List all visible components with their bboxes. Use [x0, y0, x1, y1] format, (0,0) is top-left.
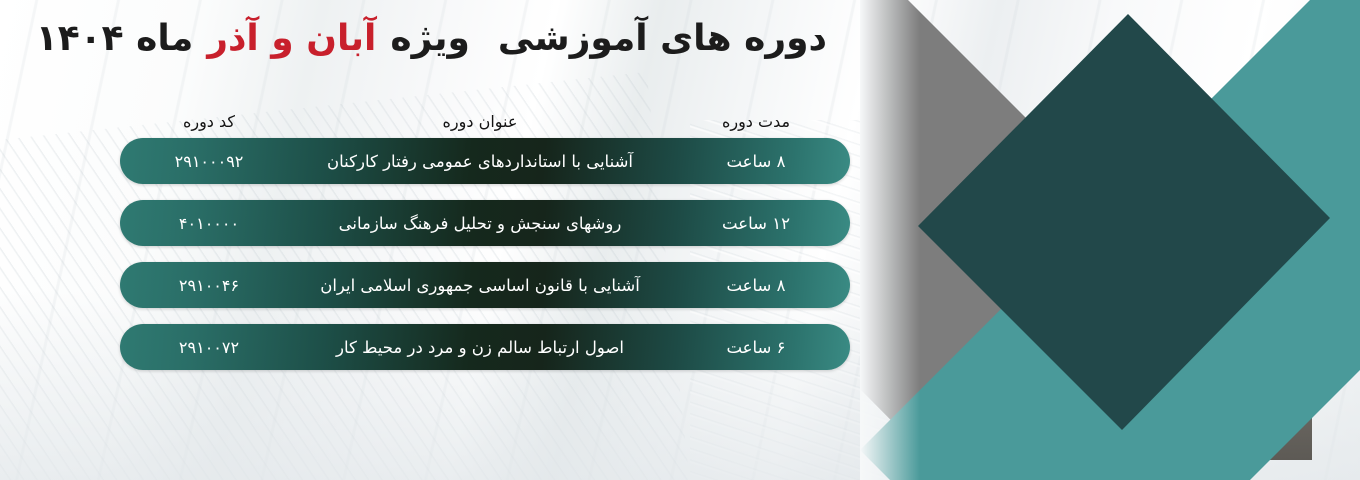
- cell-duration: ۱۲ ساعت: [676, 214, 836, 233]
- page-title: دوره های آموزشیویژهآبان و آذرماه ۱۴۰۴: [127, 18, 827, 59]
- cell-title: اصول ارتباط سالم زن و مرد در محیط کار: [284, 338, 676, 357]
- title-part-2: ویژه: [390, 18, 470, 59]
- cell-code: ۴۰۱۰۰۰۰: [134, 214, 284, 233]
- cell-duration: ۶ ساعت: [676, 338, 836, 357]
- table-row[interactable]: ۸ ساعت آشنایی با استانداردهای عمومی رفتا…: [120, 138, 850, 184]
- cell-code: ۲۹۱۰۰۰۹۲: [134, 152, 284, 171]
- table-row[interactable]: ۱۲ ساعت روشهای سنجش و تحلیل فرهنگ سازمان…: [120, 200, 850, 246]
- table-row[interactable]: ۶ ساعت اصول ارتباط سالم زن و مرد در محیط…: [120, 324, 850, 370]
- cell-title: آشنایی با استانداردهای عمومی رفتار کارکن…: [284, 152, 676, 171]
- training-courses-banner: دوره های آموزشیویژهآبان و آذرماه ۱۴۰۴ مد…: [0, 0, 1360, 480]
- column-header-title: عنوان دوره: [284, 112, 676, 131]
- column-header-code: کد دوره: [134, 112, 284, 131]
- title-accent-months: آبان و آذر: [207, 18, 376, 59]
- cell-code: ۲۹۱۰۰۷۲: [134, 338, 284, 357]
- cell-duration: ۸ ساعت: [676, 276, 836, 295]
- artwork-left-fade: [860, 0, 920, 480]
- title-part-1: دوره های آموزشی: [498, 18, 827, 59]
- cell-code: ۲۹۱۰۰۴۶: [134, 276, 284, 295]
- title-part-3: ماه ۱۴۰۴: [36, 18, 193, 59]
- cell-duration: ۸ ساعت: [676, 152, 836, 171]
- column-header-duration: مدت دوره: [676, 112, 836, 131]
- courses-table: مدت دوره عنوان دوره کد دوره ۸ ساعت آشنای…: [120, 104, 850, 386]
- table-header-row: مدت دوره عنوان دوره کد دوره: [120, 104, 850, 138]
- artwork-canvas: [860, 0, 1360, 480]
- decorative-x-artwork: [860, 0, 1360, 480]
- cell-title: آشنایی با قانون اساسی جمهوری اسلامی ایرا…: [284, 276, 676, 295]
- table-row[interactable]: ۸ ساعت آشنایی با قانون اساسی جمهوری اسلا…: [120, 262, 850, 308]
- cell-title: روشهای سنجش و تحلیل فرهنگ سازمانی: [284, 214, 676, 233]
